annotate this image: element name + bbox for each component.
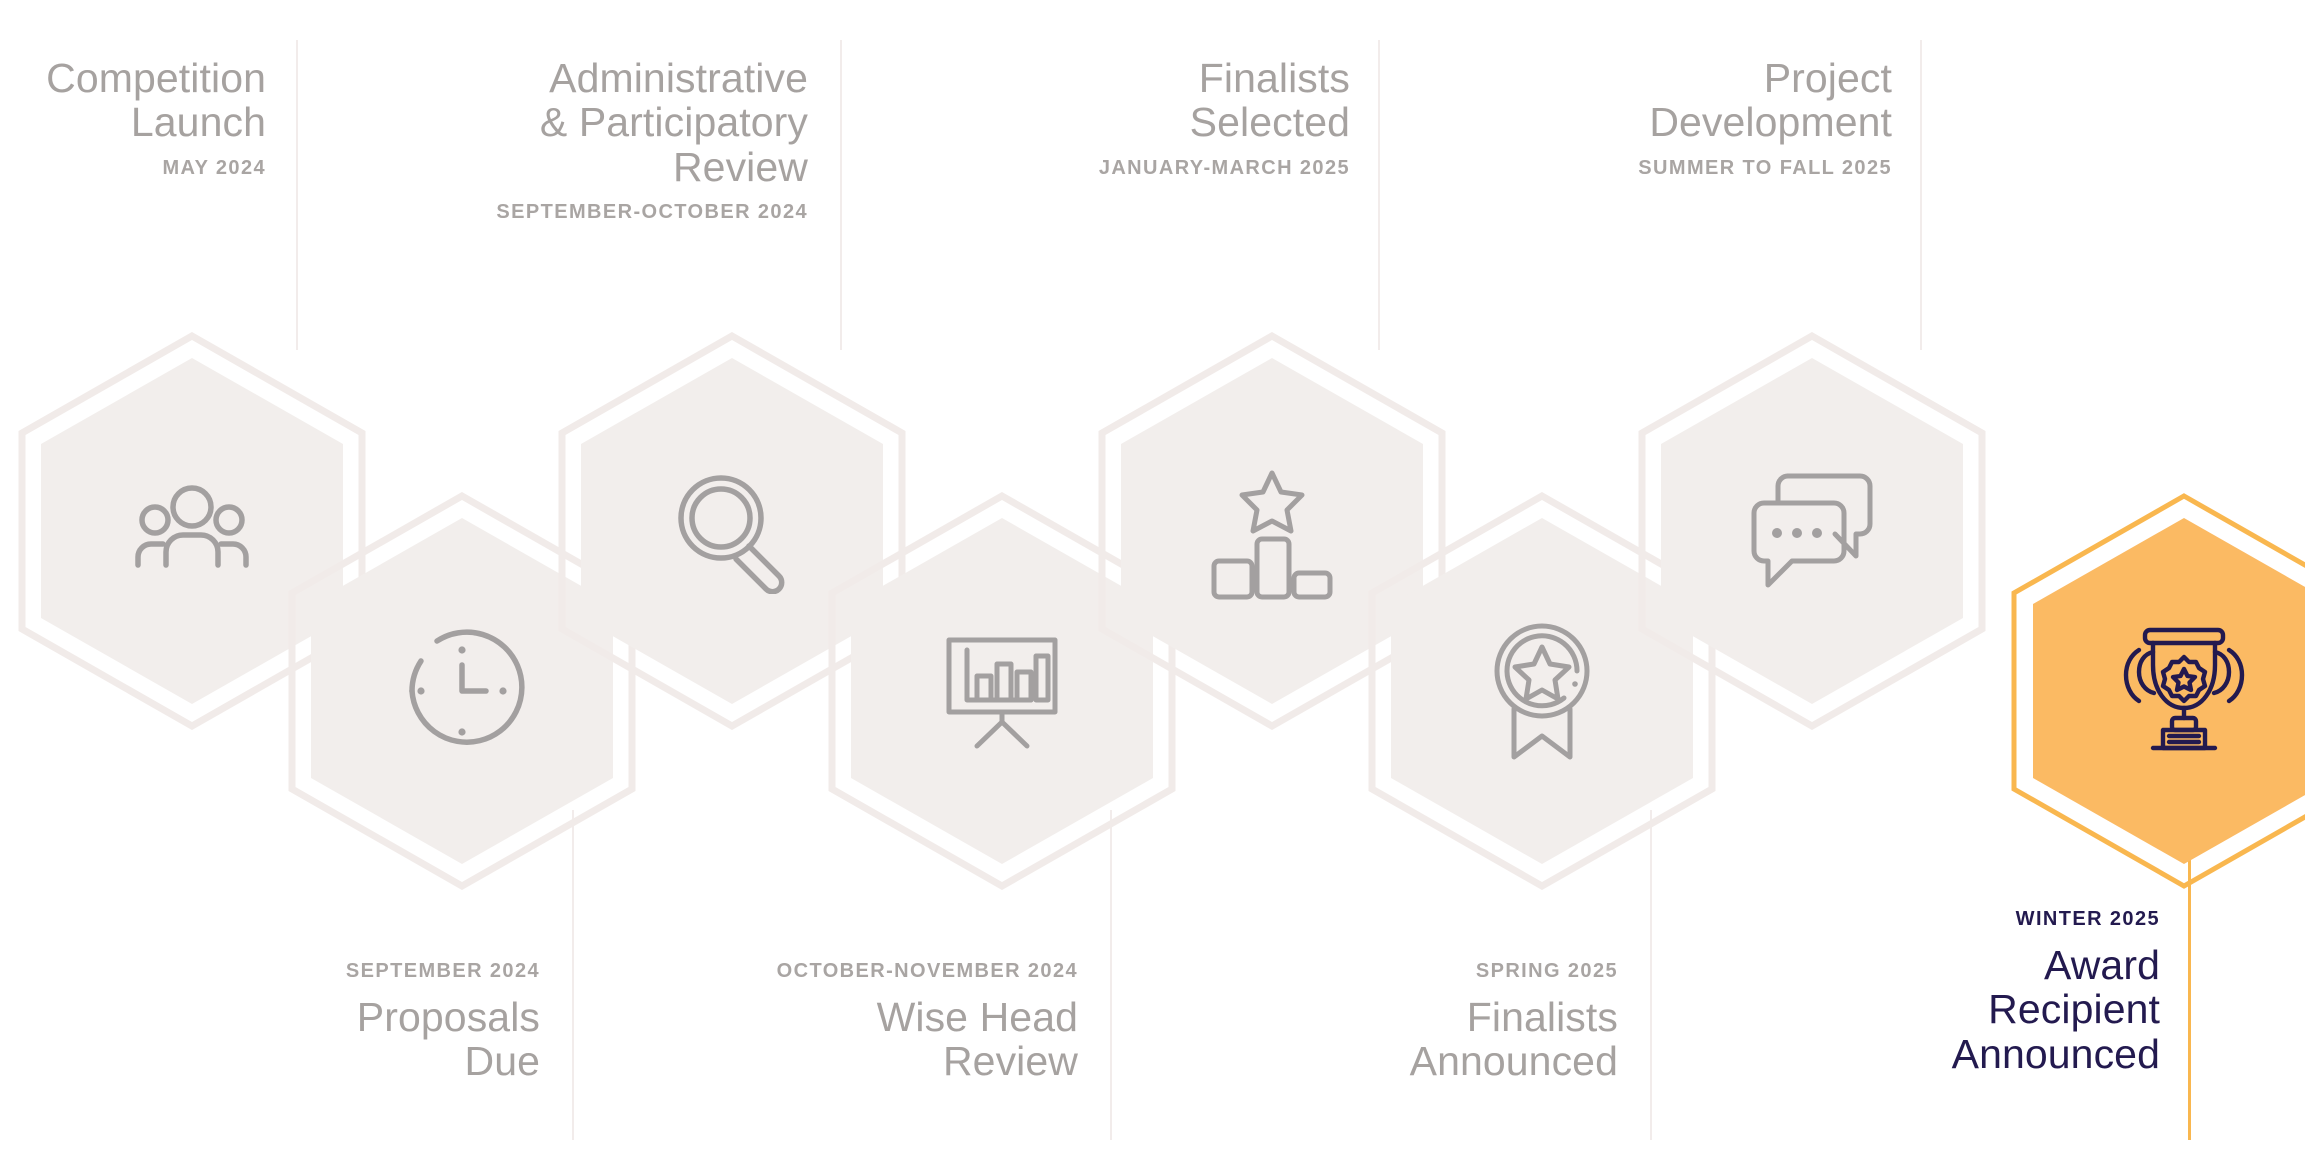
milestone-5-date: JANUARY-MARCH 2025 (920, 157, 1350, 180)
milestone-2-date: SEPTEMBER 2024 (110, 960, 540, 983)
connector-line-3 (840, 40, 842, 350)
milestone-7-date: SUMMER TO FALL 2025 (1462, 157, 1892, 180)
milestone-6-title: Finalists Announced (1188, 995, 1618, 1084)
chat-bubbles-icon (1638, 332, 1986, 730)
milestone-8-date: WINTER 2025 (1730, 908, 2160, 931)
milestone-4-title: Wise Head Review (648, 995, 1078, 1084)
label-milestone-7: Project Development SUMMER TO FALL 2025 (1462, 56, 1892, 180)
milestone-1-title: Competition Launch (0, 56, 266, 145)
hexagon-milestone-8[interactable] (2010, 492, 2305, 890)
connector-line-5 (1378, 40, 1380, 350)
milestone-6-date: SPRING 2025 (1188, 960, 1618, 983)
milestone-4-date: OCTOBER-NOVEMBER 2024 (648, 960, 1078, 983)
label-milestone-8: WINTER 2025 Award Recipient Announced (1730, 908, 2160, 1076)
label-milestone-5: Finalists Selected JANUARY-MARCH 2025 (920, 56, 1350, 180)
trophy-icon (2010, 492, 2305, 890)
label-milestone-3: Administrative & Participatory Review SE… (378, 56, 808, 224)
milestone-7-title: Project Development (1462, 56, 1892, 145)
milestone-8-title: Award Recipient Announced (1730, 943, 2160, 1076)
timeline-diagram: Competition Launch MAY 2024 Administrati… (0, 0, 2305, 1171)
connector-line-1 (296, 40, 298, 350)
milestone-1-date: MAY 2024 (0, 157, 266, 180)
milestone-3-date: SEPTEMBER-OCTOBER 2024 (378, 201, 808, 224)
label-milestone-6: SPRING 2025 Finalists Announced (1188, 960, 1618, 1084)
connector-line-7 (1920, 40, 1922, 350)
hexagon-milestone-7[interactable] (1638, 332, 1986, 730)
label-milestone-4: OCTOBER-NOVEMBER 2024 Wise Head Review (648, 960, 1078, 1084)
milestone-3-title: Administrative & Participatory Review (378, 56, 808, 189)
milestone-5-title: Finalists Selected (920, 56, 1350, 145)
milestone-2-title: Proposals Due (110, 995, 540, 1084)
label-milestone-2: SEPTEMBER 2024 Proposals Due (110, 960, 540, 1084)
label-milestone-1: Competition Launch MAY 2024 (0, 56, 266, 180)
